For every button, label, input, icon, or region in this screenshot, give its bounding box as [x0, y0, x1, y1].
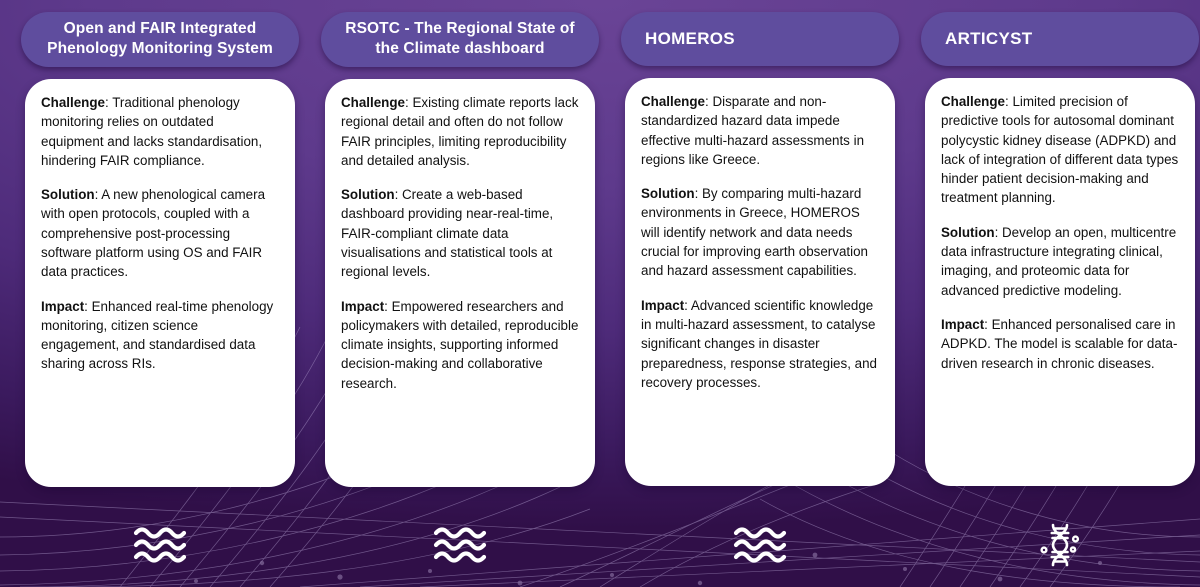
challenge-paragraph: Challenge: Existing climate reports lack…	[341, 93, 579, 170]
challenge-label: Challenge	[641, 94, 705, 109]
slide-canvas: Open and FAIR Integrated Phenology Monit…	[0, 0, 1200, 587]
dna-icon	[1035, 520, 1085, 570]
impact-paragraph: Impact: Enhanced personalised care in AD…	[941, 315, 1179, 373]
challenge-paragraph: Challenge: Traditional phenology monitor…	[41, 93, 279, 170]
waves-icon	[132, 523, 188, 567]
challenge-paragraph: Challenge: Disparate and non-standardize…	[641, 92, 879, 169]
challenge-label: Challenge	[941, 94, 1005, 109]
icon-cell-rsotc	[310, 517, 610, 573]
project-title-rsotc: RSOTC - The Regional State of the Climat…	[339, 19, 581, 60]
project-title-phenology: Open and FAIR Integrated Phenology Monit…	[39, 19, 281, 60]
challenge-text: : Limited precision of predictive tools …	[941, 94, 1178, 205]
impact-paragraph: Impact: Empowered researchers and policy…	[341, 297, 579, 393]
impact-label: Impact	[41, 299, 84, 314]
challenge-paragraph: Challenge: Limited precision of predicti…	[941, 92, 1179, 208]
project-card-row: Open and FAIR Integrated Phenology Monit…	[0, 0, 1200, 487]
solution-paragraph: Solution: Create a web-based dashboard p…	[341, 185, 579, 281]
project-column-rsotc: RSOTC - The Regional State of the Climat…	[310, 12, 610, 487]
solution-paragraph: Solution: Develop an open, multicentre d…	[941, 223, 1179, 300]
impact-paragraph: Impact: Advanced scientific knowledge in…	[641, 296, 879, 392]
solution-label: Solution	[941, 225, 995, 240]
waves-icon	[732, 523, 788, 567]
project-body-card-phenology: Challenge: Traditional phenology monitor…	[25, 79, 295, 487]
project-column-articyst: ARTICYST Challenge: Limited precision of…	[910, 12, 1200, 486]
icon-cell-homeros	[610, 517, 910, 573]
project-title-articyst: ARTICYST	[945, 28, 1032, 50]
solution-label: Solution	[641, 186, 695, 201]
project-header-pill-phenology[interactable]: Open and FAIR Integrated Phenology Monit…	[21, 12, 299, 67]
project-body-card-rsotc: Challenge: Existing climate reports lack…	[325, 79, 595, 487]
project-body-card-articyst: Challenge: Limited precision of predicti…	[925, 78, 1195, 486]
challenge-label: Challenge	[41, 95, 105, 110]
project-body-card-homeros: Challenge: Disparate and non-standardize…	[625, 78, 895, 486]
waves-icon	[432, 523, 488, 567]
project-column-phenology: Open and FAIR Integrated Phenology Monit…	[10, 12, 310, 487]
icon-cell-phenology	[10, 517, 310, 573]
impact-paragraph: Impact: Enhanced real-time phenology mon…	[41, 297, 279, 374]
solution-label: Solution	[41, 187, 95, 202]
challenge-label: Challenge	[341, 95, 405, 110]
impact-label: Impact	[941, 317, 984, 332]
project-header-pill-homeros[interactable]: HOMEROS	[621, 12, 899, 66]
project-header-pill-articyst[interactable]: ARTICYST	[921, 12, 1199, 66]
icon-cell-articyst	[910, 517, 1200, 573]
footer-icon-row	[10, 517, 1190, 573]
solution-paragraph: Solution: A new phenological camera with…	[41, 185, 279, 281]
solution-paragraph: Solution: By comparing multi-hazard envi…	[641, 184, 879, 280]
project-column-homeros: HOMEROS Challenge: Disparate and non-sta…	[610, 12, 910, 486]
solution-label: Solution	[341, 187, 395, 202]
impact-label: Impact	[641, 298, 684, 313]
project-header-pill-rsotc[interactable]: RSOTC - The Regional State of the Climat…	[321, 12, 599, 67]
project-title-homeros: HOMEROS	[645, 28, 735, 50]
impact-label: Impact	[341, 299, 384, 314]
